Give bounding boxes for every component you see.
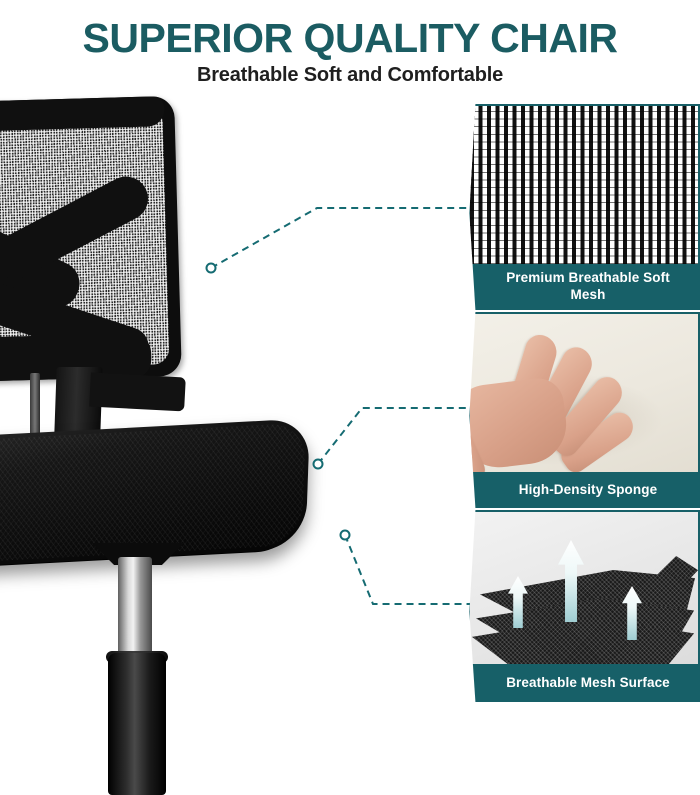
feature-card-premium-mesh[interactable]: Premium Breathable Soft Mesh (468, 104, 700, 310)
feature-card-breathable-surface[interactable]: Breathable Mesh Surface (468, 510, 700, 702)
hotspot-dot-mesh[interactable] (206, 263, 217, 274)
connector-line-surface (345, 535, 470, 604)
chair-product-image (0, 95, 320, 695)
feature-caption-breathable-surface: Breathable Mesh Surface (470, 664, 698, 700)
chair-mesh-backrest (0, 96, 182, 384)
infographic-canvas: SUPERIOR QUALITY CHAIR Breathable Soft a… (0, 0, 700, 700)
feature-caption-premium-mesh: Premium Breathable Soft Mesh (470, 264, 698, 308)
hand-palm (470, 375, 571, 472)
feature-caption-high-density-sponge: High-Density Sponge (470, 472, 698, 506)
chair-backrest-bracket (89, 373, 186, 412)
page-title: SUPERIOR QUALITY CHAIR (0, 16, 700, 60)
page-subtitle: Breathable Soft and Comfortable (0, 63, 700, 87)
feature-card-high-density-sponge[interactable]: High-Density Sponge (468, 312, 700, 508)
connector-line-sponge (318, 408, 470, 464)
hand-graphic (470, 330, 684, 472)
feature-image-high-density-sponge (470, 314, 698, 472)
chair-chrome-cylinder (118, 557, 152, 665)
hotspot-dot-sponge[interactable] (313, 459, 324, 470)
mesh-macro-texture (470, 106, 698, 264)
feature-image-breathable-surface (470, 512, 698, 664)
chair-gas-lift-sleeve (108, 653, 166, 795)
hotspot-dot-surface[interactable] (340, 530, 351, 541)
feature-image-premium-mesh (470, 106, 698, 264)
